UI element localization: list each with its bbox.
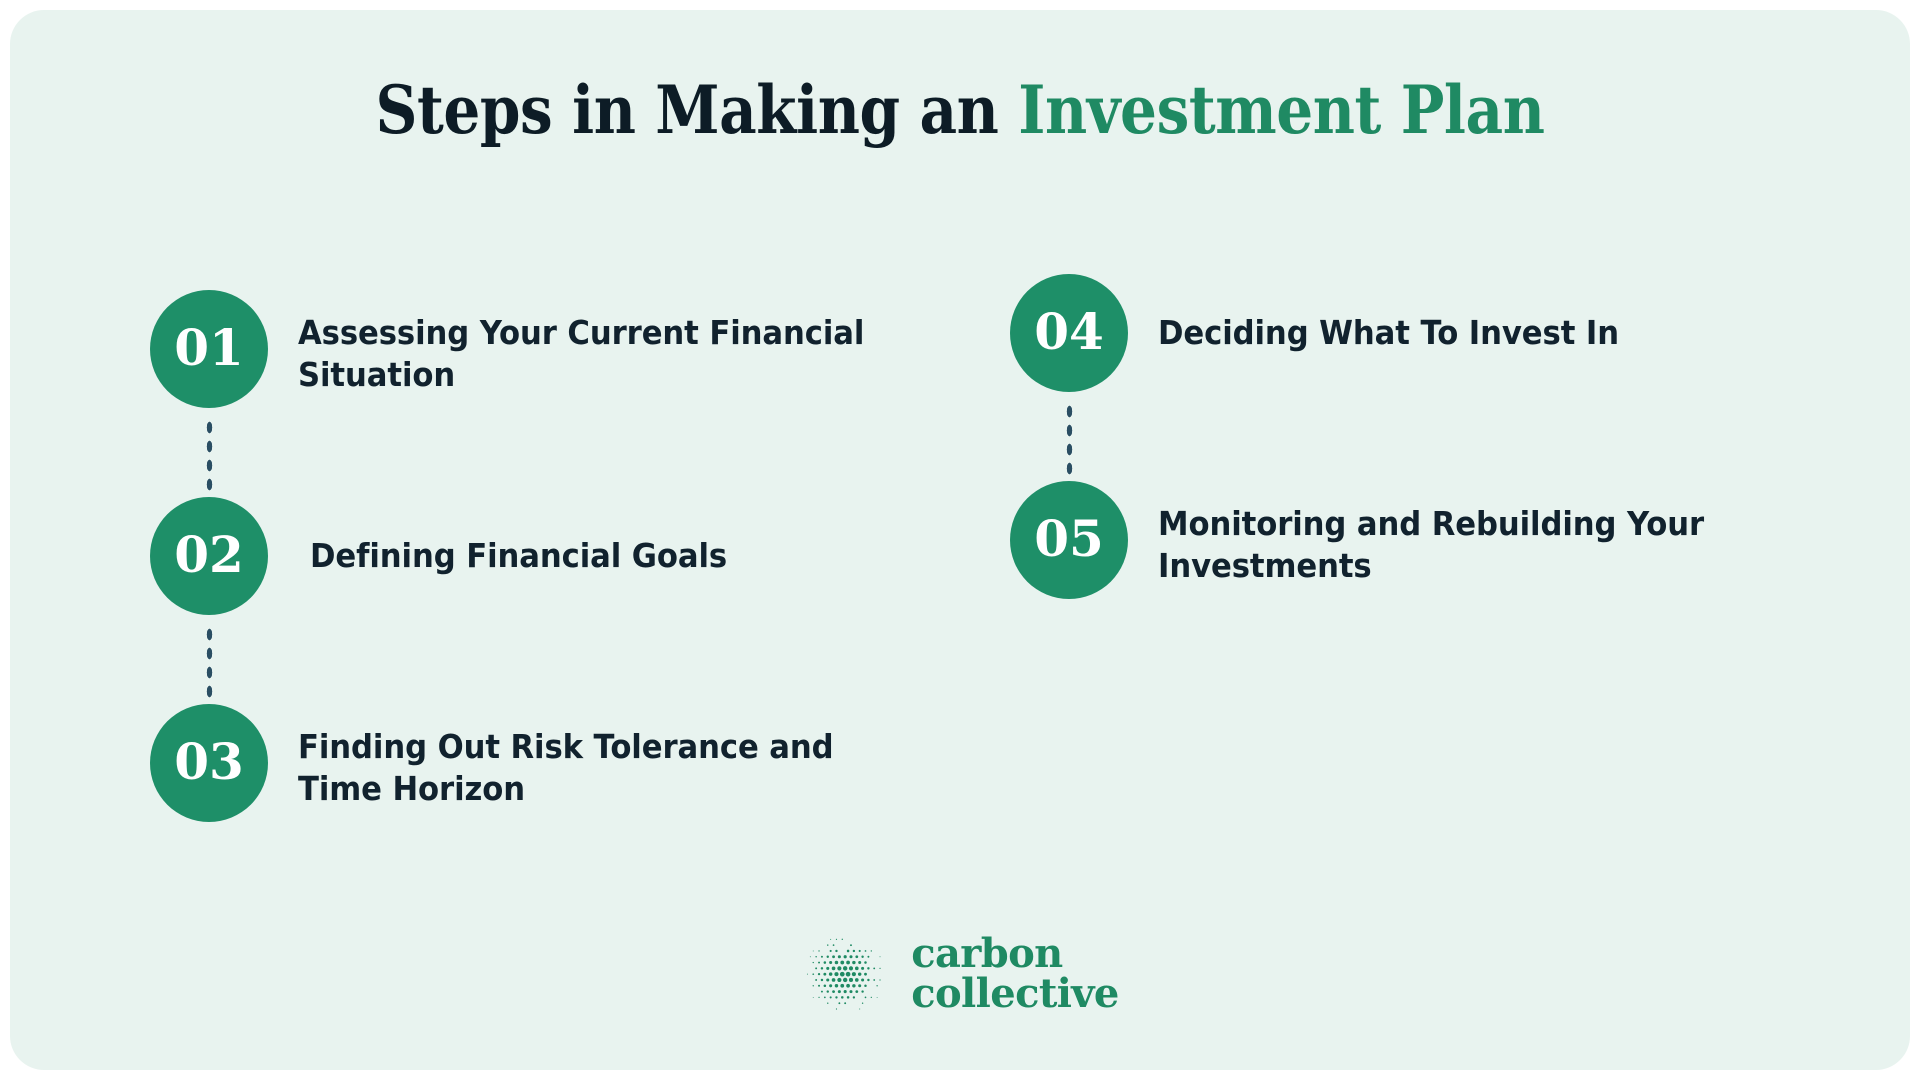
step-badge-04: 04 xyxy=(1010,274,1128,392)
step-badge-01: 01 xyxy=(150,290,268,408)
step-label-05: Monitoring and Rebuilding Your Investmen… xyxy=(1158,503,1755,587)
infographic-canvas: Steps in Making an Investment Plan 01 As… xyxy=(10,10,1910,1070)
connector-dots-01-02 xyxy=(205,418,214,504)
step-item-02[interactable]: 02 Defining Financial Goals xyxy=(150,497,940,615)
step-number-02: 02 xyxy=(174,530,244,580)
steps-container: 01 Assessing Your Current Financial Situ… xyxy=(10,10,1910,1070)
step-text-04: Deciding What To Invest In xyxy=(1128,274,1800,354)
step-label-04: Deciding What To Invest In xyxy=(1158,312,1755,354)
connector-dots-04-05 xyxy=(1065,402,1074,488)
step-label-03: Finding Out Risk Tolerance and Time Hori… xyxy=(298,726,895,810)
step-number-05: 05 xyxy=(1034,514,1104,564)
brand-wordmark: carbon collective xyxy=(911,934,1119,1013)
step-item-05[interactable]: 05 Monitoring and Rebuilding Your Invest… xyxy=(1010,481,1800,599)
brand-line-1: carbon xyxy=(911,934,1119,974)
step-badge-03: 03 xyxy=(150,704,268,822)
step-number-01: 01 xyxy=(174,323,244,373)
halftone-dot-cluster-icon xyxy=(801,930,889,1018)
step-badge-02: 02 xyxy=(150,497,268,615)
brand-line-2: collective xyxy=(911,974,1119,1014)
step-label-02: Defining Financial Goals xyxy=(310,535,896,577)
step-item-04[interactable]: 04 Deciding What To Invest In xyxy=(1010,274,1800,392)
step-item-03[interactable]: 03 Finding Out Risk Tolerance and Time H… xyxy=(150,704,940,822)
brand-logo: carbon collective xyxy=(10,930,1910,1018)
step-badge-05: 05 xyxy=(1010,481,1128,599)
step-number-03: 03 xyxy=(174,737,244,787)
step-text-03: Finding Out Risk Tolerance and Time Hori… xyxy=(268,704,940,810)
step-text-02: Defining Financial Goals xyxy=(268,497,940,577)
connector-dots-02-03 xyxy=(205,625,214,711)
step-text-01: Assessing Your Current Financial Situati… xyxy=(268,290,940,396)
step-number-04: 04 xyxy=(1034,307,1104,357)
step-item-01[interactable]: 01 Assessing Your Current Financial Situ… xyxy=(150,290,940,408)
step-text-05: Monitoring and Rebuilding Your Investmen… xyxy=(1128,481,1800,587)
step-label-01: Assessing Your Current Financial Situati… xyxy=(298,312,895,396)
